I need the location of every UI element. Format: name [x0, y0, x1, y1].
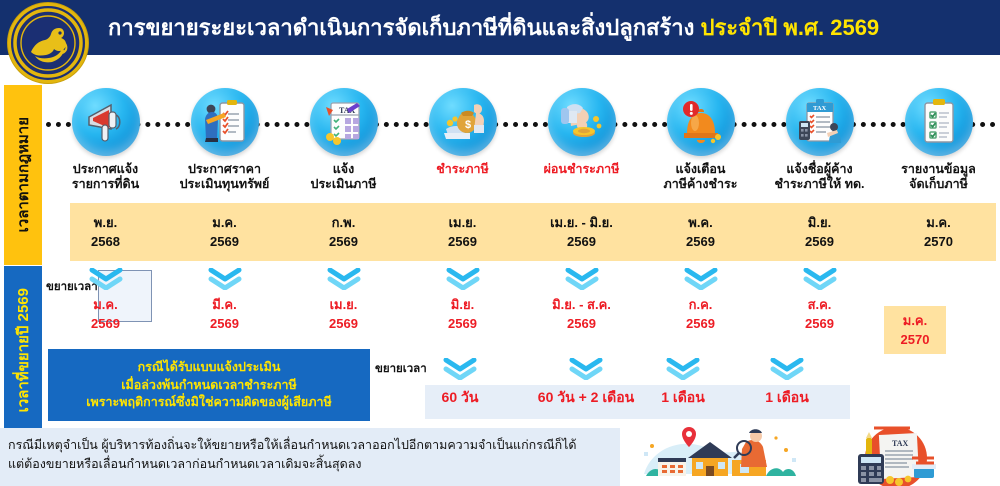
house-inspection-illustration: [636, 424, 806, 486]
timeline-step-label: ประกาศแจ้งรายการที่ดิน: [72, 162, 139, 193]
footer-note-line-2: แต่ต้องขยายหรือเลื่อนกำหนดเวลาก่อนกำหนดเ…: [8, 455, 610, 474]
timeline-step-6[interactable]: แจ้งเตือนภาษีค้างชำระ: [641, 88, 760, 193]
infographic-page: การขยายระยะเวลาดำเนินการจัดเก็บภาษีที่ดิ…: [0, 0, 1000, 486]
extended-date-label: มิ.ย.2569: [448, 296, 477, 334]
extended-date-cells: ม.ค.2569มี.ค.2569เม.ย.2569มิ.ย.2569มิ.ย.…: [46, 268, 996, 334]
tax-document-calculator-illustration: TAX: [818, 424, 978, 486]
timeline-step-label: ผ่อนชำระภาษี: [544, 162, 620, 177]
timeline-steps: ประกาศแจ้งรายการที่ดิน ประกาศราคาประเมิน…: [46, 88, 996, 198]
page-title: การขยายระยะเวลาดำเนินการจัดเก็บภาษีที่ดิ…: [108, 10, 879, 45]
extended-date-label: ก.ค.2569: [686, 296, 715, 334]
timeline-step-2[interactable]: ประกาศราคาประเมินทุนทรัพย์: [165, 88, 284, 193]
duration-chevron-icon: [569, 358, 603, 385]
timeline-step-8[interactable]: รายงานข้อมูลจัดเก็บภาษี: [879, 88, 998, 193]
extended-date-label: ส.ค.2569: [805, 296, 834, 334]
extended-date-label: มี.ค.2569: [210, 296, 239, 334]
extended-date-label: มิ.ย. - ส.ค.2569: [552, 296, 611, 334]
extended-date-cell-7: ส.ค.2569: [760, 268, 879, 334]
legal-date-cell-7: มิ.ย.2569: [760, 203, 879, 261]
checklist-icon: [905, 88, 973, 156]
legal-date-year: 2569: [805, 232, 834, 252]
duration-cell-2: 60 วัน + 2 เดือน: [521, 358, 651, 409]
duration-cell-4: 1 เดือน: [747, 358, 827, 409]
garuda-singha-seal-icon: [8, 3, 88, 83]
extended-date-cell-1: ม.ค.2569: [46, 268, 165, 334]
timeline-step-label: ประกาศราคาประเมินทุนทรัพย์: [180, 162, 270, 193]
legal-date-year: 2570: [924, 232, 953, 252]
legal-date-cell-6: พ.ค.2569: [641, 203, 760, 261]
extension-chevron-icon: [803, 268, 837, 295]
legal-date-month: เม.ย. - มิ.ย.: [550, 213, 613, 233]
timeline-step-4[interactable]: $ ชำระภาษี: [403, 88, 522, 177]
extended-date-cell-6: ก.ค.2569: [641, 268, 760, 334]
jan-2570-month: ม.ค.: [903, 311, 928, 331]
duration-label: 1 เดือน: [765, 387, 809, 409]
extended-date-cell-2: มี.ค.2569: [165, 268, 284, 334]
legal-date-cell-2: ม.ค.2569: [165, 203, 284, 261]
extension-chevron-icon: [565, 268, 599, 295]
extension-chevron-icon: [446, 268, 480, 295]
extended-date-cell-3: เม.ย.2569: [284, 268, 403, 334]
tax-form-icon: TAX: [310, 88, 378, 156]
duration-label: 60 วัน: [442, 387, 479, 409]
header-bar: การขยายระยะเวลาดำเนินการจัดเก็บภาษีที่ดิ…: [0, 0, 1000, 55]
rail-extended-timeline: เวลาที่ขยายปี 2569: [4, 266, 42, 434]
extended-date-label: เม.ย.2569: [329, 296, 358, 334]
legal-date-month: พ.ค.: [688, 213, 713, 233]
footer-note: กรณีมีเหตุจำเป็น ผู้บริหารท้องถิ่นจะให้ข…: [0, 428, 620, 486]
timeline-step-label: แจ้งชื่อผู้ค้างชำระภาษีให้ ทด.: [774, 162, 864, 193]
jan-2570-year: 2570: [901, 330, 930, 350]
svg-text:$: $: [465, 119, 471, 131]
blue-note-box: กรณีได้รับแบบแจ้งประเมิน เมื่อล่วงพ้นกำห…: [48, 349, 370, 421]
legal-date-cell-5: เม.ย. - มิ.ย.2569: [522, 203, 641, 261]
footer-note-line-1: กรณีมีเหตุจำเป็น ผู้บริหารท้องถิ่นจะให้ข…: [8, 436, 610, 455]
timeline-step-label: แจ้งเตือนภาษีค้างชำระ: [664, 162, 738, 193]
duration-label: 60 วัน + 2 เดือน: [538, 387, 634, 409]
duration-cells: 60 วัน60 วัน + 2 เดือน1 เดือน1 เดือน: [425, 358, 850, 420]
jan-2570-box: ม.ค. 2570: [884, 306, 946, 354]
blue-note-line-3: เพราะพฤติการณ์ซึ่งมิใช่ความผิดของผู้เสีย…: [86, 394, 331, 411]
extended-date-label: ม.ค.2569: [91, 296, 120, 334]
alert-bell-icon: [667, 88, 735, 156]
legal-date-month: มิ.ย.: [808, 213, 831, 233]
timeline-step-label: รายงานข้อมูลจัดเก็บภาษี: [901, 162, 976, 193]
coin-drop-hand-icon: [548, 88, 616, 156]
extended-date-cell-5: มิ.ย. - ส.ค.2569: [522, 268, 641, 334]
duration-chevron-icon: [443, 358, 477, 385]
blue-note-line-1: กรณีได้รับแบบแจ้งประเมิน: [138, 359, 281, 376]
timeline-step-3[interactable]: TAX แจ้งประเมินภาษี: [284, 88, 403, 193]
extension-chevron-icon: [327, 268, 361, 295]
legal-date-year: 2569: [210, 232, 239, 252]
page-title-main: การขยายระยะเวลาดำเนินการจัดเก็บภาษีที่ดิ…: [108, 15, 694, 40]
rail-legal-timeline: เวลาตามกฎหมาย: [4, 85, 42, 265]
extension-chevron-icon: [89, 268, 123, 295]
duration-cell-3: 1 เดือน: [643, 358, 723, 409]
tax-list-icon: TAX: [786, 88, 854, 156]
svg-text:TAX: TAX: [892, 439, 909, 448]
blue-note-line-2: เมื่อล่วงพ้นกำหนดเวลาชำระภาษี: [121, 377, 296, 394]
legal-date-year: 2569: [448, 232, 477, 252]
timeline-step-label: ชำระภาษี: [436, 162, 488, 177]
legal-date-month: ม.ค.: [212, 213, 237, 233]
duration-chevron-icon: [666, 358, 700, 385]
extension-tag-2: ขยายเวลา: [375, 360, 427, 378]
legal-date-year: 2568: [91, 232, 120, 252]
rail-extended-label: เวลาที่ขยายปี 2569: [16, 288, 31, 412]
rail-legal-label: เวลาตามกฎหมาย: [16, 117, 31, 232]
money-bag-hand-icon: $: [429, 88, 497, 156]
legal-date-cell-8: ม.ค.2570: [879, 203, 998, 261]
svg-text:TAX: TAX: [813, 105, 827, 112]
duration-cell-1: 60 วัน: [425, 358, 495, 409]
extended-date-cell-4: มิ.ย.2569: [403, 268, 522, 334]
legal-date-month: พ.ย.: [94, 213, 117, 233]
legal-date-cell-3: ก.พ.2569: [284, 203, 403, 261]
timeline-step-1[interactable]: ประกาศแจ้งรายการที่ดิน: [46, 88, 165, 193]
page-title-year: ประจำปี พ.ศ. 2569: [701, 15, 880, 40]
timeline-step-5[interactable]: ผ่อนชำระภาษี: [522, 88, 641, 177]
timeline-step-7[interactable]: TAX แจ้งชื่อผู้ค้างชำระภาษีให้ ทด.: [760, 88, 879, 193]
duration-label: 1 เดือน: [661, 387, 705, 409]
megaphone-icon: [72, 88, 140, 156]
legal-date-year: 2569: [567, 232, 596, 252]
legal-date-month: เม.ย.: [449, 213, 477, 233]
legal-date-month: ม.ค.: [926, 213, 951, 233]
extension-chevron-icon: [208, 268, 242, 295]
legal-date-month: ก.พ.: [332, 213, 356, 233]
timeline-step-label: แจ้งประเมินภาษี: [311, 162, 377, 193]
legal-date-cell-1: พ.ย.2568: [46, 203, 165, 261]
legal-date-year: 2569: [329, 232, 358, 252]
duration-chevron-icon: [770, 358, 804, 385]
extension-chevron-icon: [684, 268, 718, 295]
legal-date-cell-4: เม.ย.2569: [403, 203, 522, 261]
clipboard-person-icon: [191, 88, 259, 156]
legal-date-year: 2569: [686, 232, 715, 252]
